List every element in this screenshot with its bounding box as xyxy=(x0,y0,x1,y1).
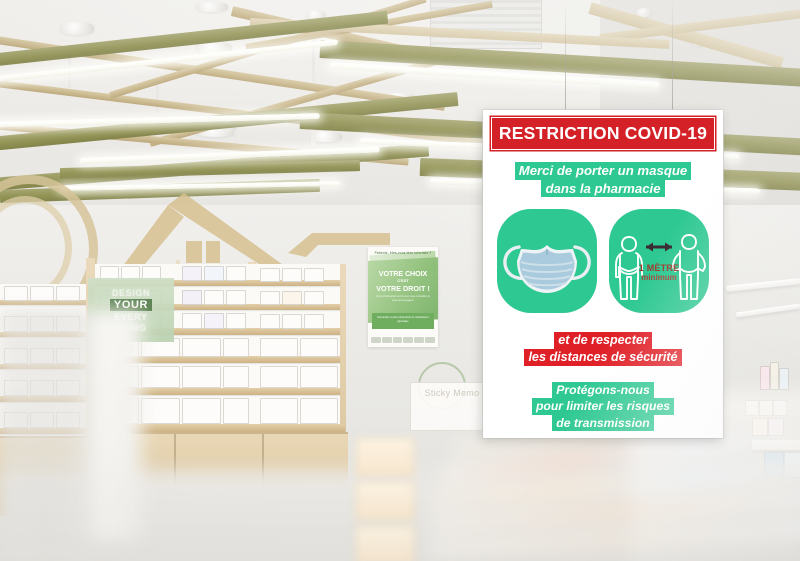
poster-message-distance: et de respecter les distances de sécurit… xyxy=(483,332,723,366)
poster-message-line: les distances de sécurité xyxy=(524,349,681,366)
poster-message-line: et de respecter xyxy=(554,332,652,349)
green-poster-heading3: VOTRE DROIT ! xyxy=(368,284,438,293)
product-item xyxy=(282,291,302,305)
poster-message-line: de transmission xyxy=(552,415,653,431)
product-item xyxy=(304,291,324,305)
product-item xyxy=(204,313,224,329)
product-item xyxy=(260,291,280,305)
poster-message-line: pour limiter les risques xyxy=(532,398,674,414)
product-item xyxy=(300,398,338,424)
face-mask-icon xyxy=(497,209,597,313)
product-item xyxy=(260,338,298,357)
product-item xyxy=(204,290,224,305)
product-item xyxy=(260,314,280,329)
poster-message-mask: Merci de porter un masque dans la pharma… xyxy=(483,162,723,197)
product-item xyxy=(182,398,221,424)
poster-message-line: Merci de porter un masque xyxy=(515,162,692,180)
poster-message-line: dans la pharmacie xyxy=(541,180,664,198)
product-item xyxy=(760,366,770,390)
poster-title: RESTRICTION COVID-19 xyxy=(499,123,707,144)
product-item xyxy=(282,314,302,329)
votre-choix-poster: Patients, êtes-vous bien informés ? VOTR… xyxy=(368,247,438,347)
covid-restriction-poster: RESTRICTION COVID-19 Merci de porter un … xyxy=(483,110,723,438)
product-item xyxy=(260,268,280,282)
ceiling-vent-icon xyxy=(196,2,228,12)
distance-label-line2: minimum xyxy=(609,273,709,282)
product-item xyxy=(260,398,298,424)
product-item xyxy=(223,338,249,357)
product-item xyxy=(300,366,338,388)
product-item xyxy=(182,290,202,305)
ceiling-vent-icon xyxy=(60,22,94,35)
product-item xyxy=(282,268,302,282)
product-item xyxy=(779,368,789,390)
wall-graphic-decoration xyxy=(60,175,390,270)
product-item xyxy=(223,366,249,388)
product-item xyxy=(56,286,80,301)
green-poster-heading2: C'EST xyxy=(368,278,438,283)
product-item xyxy=(141,366,180,388)
distance-label: 1 MÈTRE minimum xyxy=(609,263,709,283)
green-poster-band-text: Demandez à votre pharmacien le médicamen… xyxy=(374,316,432,324)
poster-message-protect: Protégons-nous pour limiter les risques … xyxy=(483,382,723,431)
poster-hanging-string xyxy=(672,0,673,112)
poster-message-line: Protégons-nous xyxy=(552,382,653,398)
store-photo-scene: DESIGN YOUR EVERY THING Patients, êtes-v… xyxy=(0,0,800,561)
green-poster-heading1: VOTRE CHOIX xyxy=(368,269,438,278)
green-poster-logo-row xyxy=(371,335,435,344)
poster-hanging-string xyxy=(565,0,566,112)
product-item xyxy=(204,266,224,281)
product-item xyxy=(304,314,324,329)
foreground-rack-left xyxy=(0,300,120,561)
product-item xyxy=(30,286,54,301)
poster-icon-row: 1 MÈTRE minimum xyxy=(497,206,709,316)
product-item xyxy=(260,366,298,388)
product-item xyxy=(300,338,338,357)
product-item xyxy=(141,398,180,424)
product-item xyxy=(182,266,202,281)
product-item xyxy=(182,338,221,357)
social-distancing-icon: 1 MÈTRE minimum xyxy=(609,209,709,313)
product-item xyxy=(223,398,249,424)
foreground-sticker-strip xyxy=(352,438,418,561)
product-item xyxy=(182,366,221,388)
sticky-memo-label: Sticky Memo xyxy=(425,388,480,398)
distance-label-line1: 1 MÈTRE xyxy=(609,263,709,273)
poster-title-banner: RESTRICTION COVID-19 xyxy=(491,117,715,150)
product-item xyxy=(4,286,28,301)
product-item xyxy=(226,266,246,281)
green-poster-eyebrow: Patients, êtes-vous bien informés ? xyxy=(368,251,438,255)
product-item xyxy=(304,268,324,282)
product-item xyxy=(226,290,246,305)
product-item xyxy=(226,313,246,329)
product-item xyxy=(770,362,779,390)
green-poster-subtext: Votre pharmacien est là pour vous consei… xyxy=(376,295,430,303)
product-item xyxy=(182,313,202,329)
design-sign-line1: DESIGN xyxy=(112,288,150,298)
